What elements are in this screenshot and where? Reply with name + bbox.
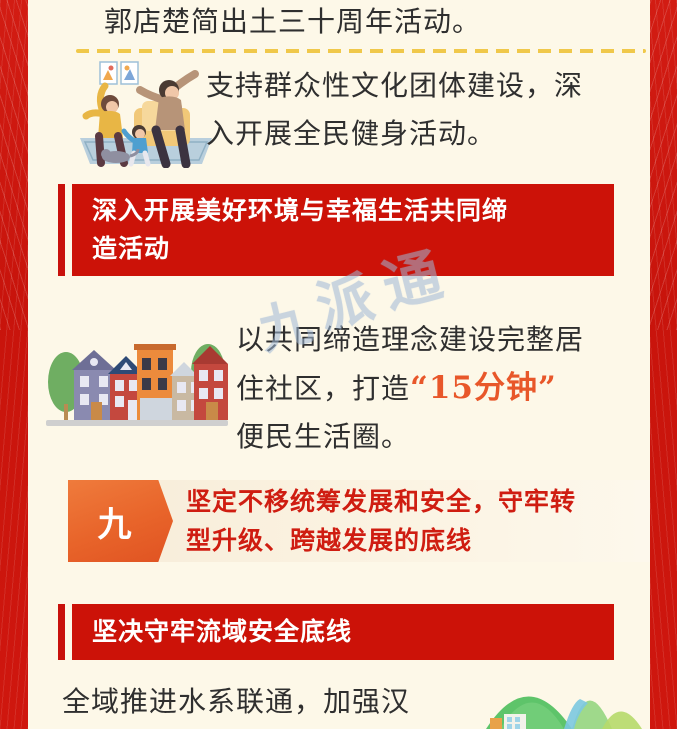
river-paragraph-line-1: 全域推进水系联通，加强汉 [62, 678, 502, 726]
banner-river-accent-tick [58, 604, 65, 660]
colorful-townhouses-row-illustration [36, 320, 236, 430]
banner-line-1: 深入开展美好环境与幸福生活共同缔 [92, 192, 598, 230]
section-nine-title-line-1: 坚定不移统筹发展和安全，守牢转 [186, 482, 650, 521]
top-paragraph: 郭店楚简出土三十周年活动。 [104, 0, 584, 46]
community-line-2: 住社区，打造“15分钟” [236, 364, 650, 413]
fitness-paragraph-line-2: 入开展全民健身活动。 [206, 110, 646, 158]
section-number-label: 九 [98, 497, 134, 546]
right-border-rays [650, 0, 677, 330]
content-canvas: 郭店楚简出土三十周年活动。 [28, 0, 650, 729]
river-paragraph: 全域推进水系联通，加强汉 [62, 678, 502, 726]
banner-beautiful-environment-text: 深入开展美好环境与幸福生活共同缔 造活动 [92, 192, 598, 268]
right-red-border [650, 0, 677, 729]
section-number-badge: 九 [68, 480, 173, 562]
community-paragraph: 以共同缔造理念建设完整居 住社区，打造“15分钟” 便民生活圈。 [236, 316, 650, 461]
banner-beautiful-environment: 深入开展美好环境与幸福生活共同缔 造活动 [58, 184, 614, 276]
left-border-rays [0, 0, 28, 330]
fitness-paragraph-line-1: 支持群众性文化团体建设，深 [206, 62, 646, 110]
infographic-page: 郭店楚简出土三十周年活动。 [0, 0, 677, 729]
fitness-paragraph: 支持群众性文化团体建设，深 入开展全民健身活动。 [206, 62, 646, 158]
left-red-border [0, 0, 28, 729]
community-line-2-text: 住社区，打造 [236, 372, 410, 405]
banner-accent-tick [58, 184, 65, 276]
dashed-divider [76, 49, 646, 53]
banner-line-2: 造活动 [92, 230, 598, 268]
community-line-1: 以共同缔造理念建设完整居 [236, 316, 650, 364]
fifteen-minute-highlight: “15分钟” [410, 370, 557, 406]
banner-river-safety: 坚决守牢流域安全底线 [58, 604, 614, 660]
section-nine-title: 坚定不移统筹发展和安全，守牢转 型升级、跨越发展的底线 [186, 482, 650, 560]
banner-river-safety-text: 坚决守牢流域安全底线 [92, 613, 598, 651]
section-nine-header: 九 坚定不移统筹发展和安全，守牢转 型升级、跨越发展的底线 [68, 480, 650, 562]
section-nine-title-line-2: 型升级、跨越发展的底线 [186, 521, 650, 560]
community-line-3: 便民生活圈。 [236, 413, 650, 461]
